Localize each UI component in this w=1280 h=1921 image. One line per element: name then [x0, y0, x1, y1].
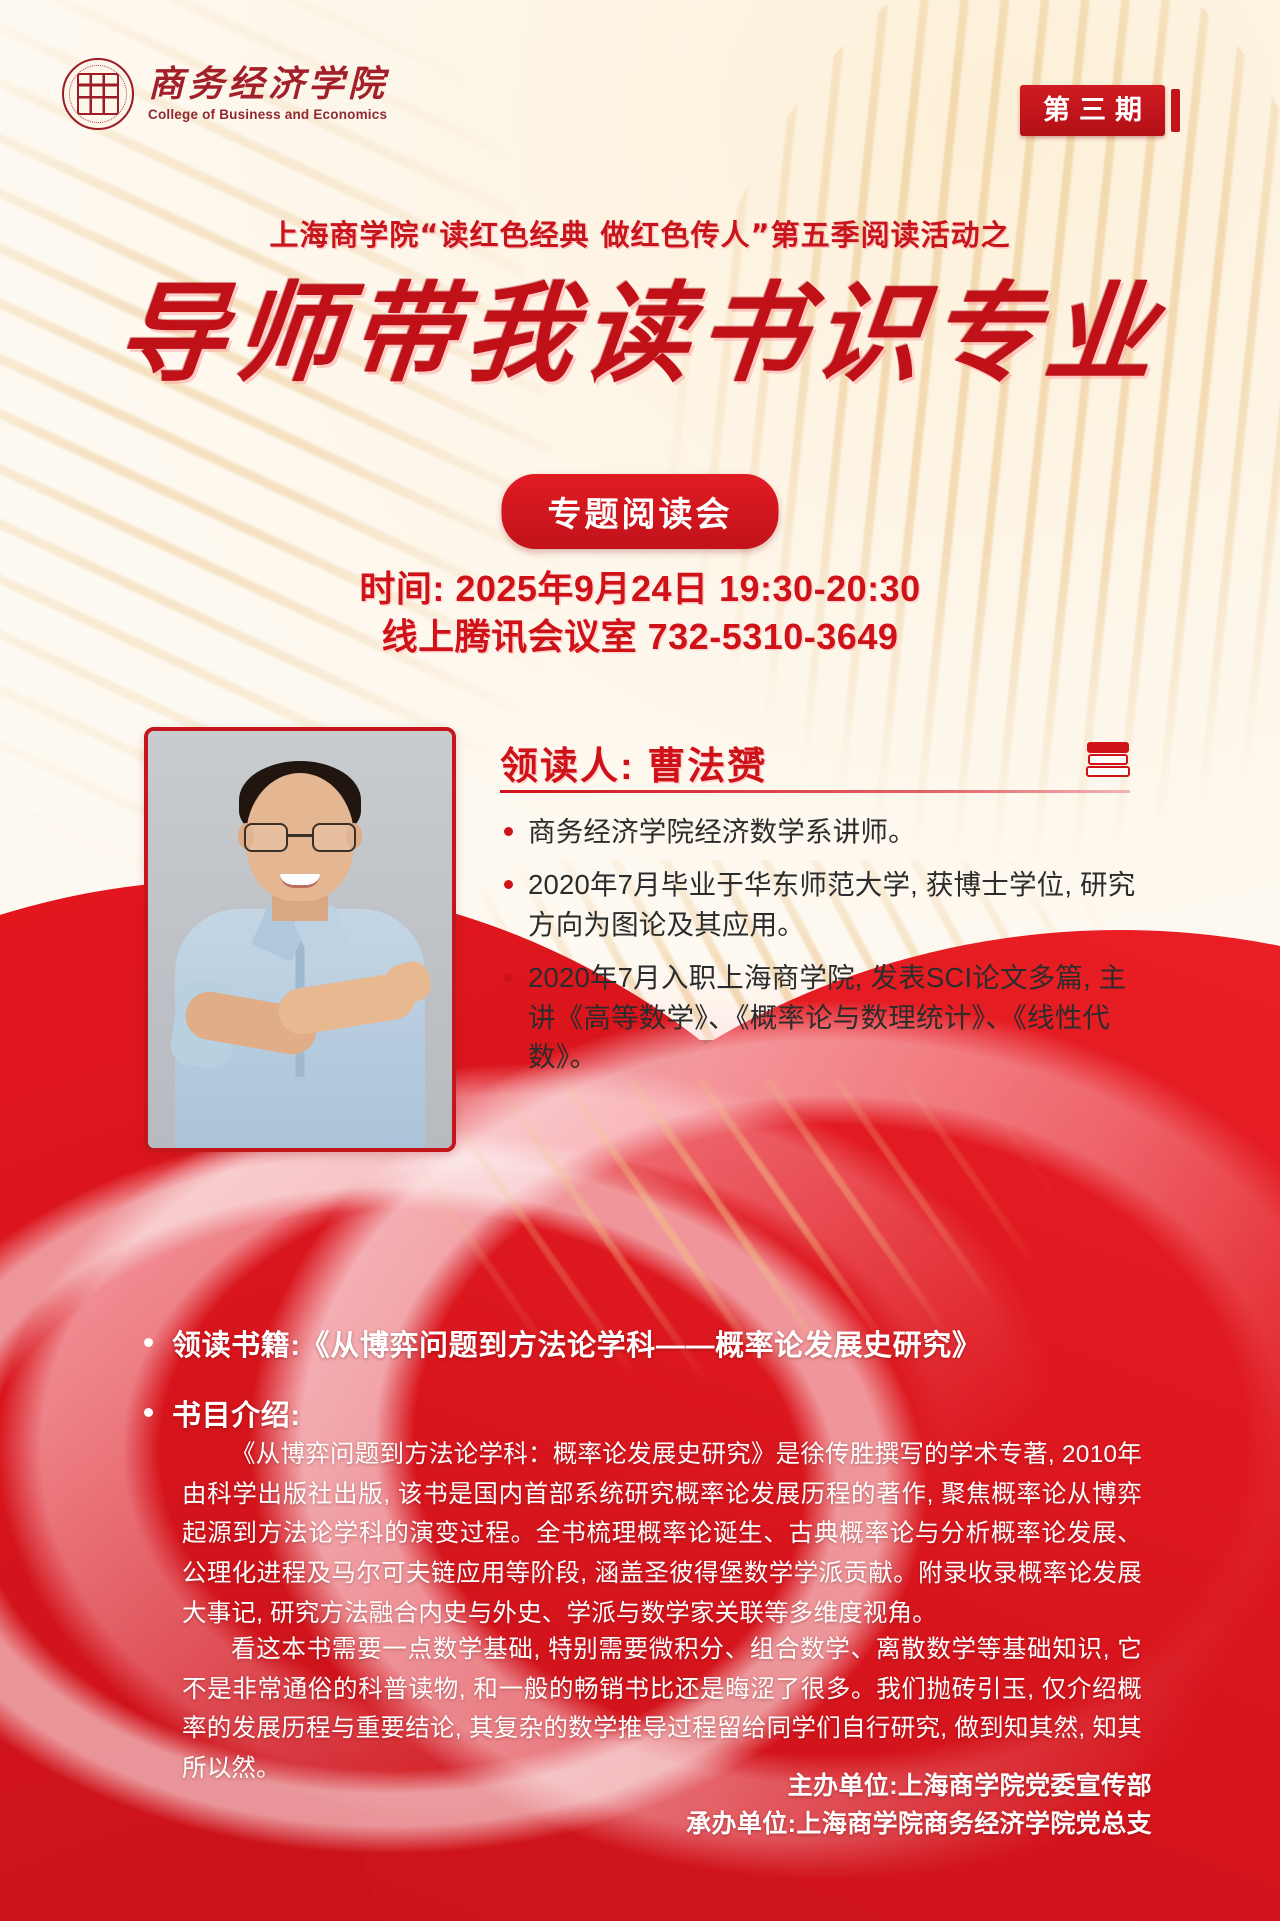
- session-type-badge: 专题阅读会: [502, 474, 779, 549]
- book-paragraph-1: 《从博弈问题到方法论学科：概率论发展史研究》是徐传胜撰写的学术专著, 2010年…: [182, 1435, 1142, 1633]
- kicker-text: 上海商学院“读红色经典 做红色传人”第五季阅读活动之: [0, 212, 1280, 254]
- organizer-footer: 主办单位:上海商学院党委宣传部 承办单位:上海商学院商务经济学院党总支: [686, 1768, 1152, 1843]
- footer-organizer: 承办单位:上海商学院商务经济学院党总支: [686, 1806, 1152, 1844]
- list-item: 2020年7月入职上海商学院, 发表SCI论文多篇, 主讲《高等数学》、《概率论…: [500, 958, 1140, 1078]
- glasses-lens-right: [312, 823, 356, 852]
- event-details: 时间: 2025年9月24日 19:30-20:30 线上腾讯会议室 732-5…: [0, 565, 1280, 660]
- logo-name-en: College of Business and Economics: [148, 108, 388, 122]
- book-bottom: [1086, 766, 1130, 777]
- seal-glyph-icon: [77, 73, 119, 115]
- logo-wordmark: 商务经济学院 College of Business and Economics: [148, 66, 388, 122]
- issue-badge-label: 第三期: [1020, 85, 1165, 136]
- list-item: 商务经济学院经济数学系讲师。: [500, 812, 1140, 852]
- page-title: 导师带我读书识专业: [0, 276, 1280, 393]
- event-time: 时间: 2025年9月24日 19:30-20:30: [0, 565, 1280, 613]
- logo-name-cn: 商务经济学院: [148, 66, 388, 102]
- speaker-name: 领读人: 曹法赟: [500, 735, 767, 790]
- glasses-lens-left: [244, 823, 288, 852]
- portrait-glasses-icon: [244, 823, 356, 853]
- event-venue: 线上腾讯会议室 732-5310-3649: [0, 613, 1280, 661]
- footer-host: 主办单位:上海商学院党委宣传部: [686, 1768, 1152, 1806]
- glasses-bridge: [288, 834, 312, 837]
- book-intro-label: 书目介绍:: [140, 1392, 540, 1434]
- speaker-bio-list: 商务经济学院经济数学系讲师。 2020年7月毕业于华东师范大学, 获博士学位, …: [500, 812, 1140, 1077]
- issue-badge: 第三期: [1020, 85, 1180, 136]
- book-title-line: 领读书籍:《从博弈问题到方法论学科——概率论发展史研究》: [140, 1322, 1150, 1364]
- speaker-bio: 商务经济学院经济数学系讲师。 2020年7月毕业于华东师范大学, 获博士学位, …: [500, 812, 1140, 1090]
- speaker-portrait: [144, 727, 456, 1152]
- speaker-divider: [500, 790, 1130, 793]
- book-paragraph-2: 看这本书需要一点数学基础, 特别需要微积分、组合数学、离散数学等基础知识, 它不…: [182, 1630, 1142, 1789]
- list-item: 2020年7月毕业于华东师范大学, 获博士学位, 研究方向为图论及其应用。: [500, 865, 1140, 945]
- college-logo: 商务经济学院 College of Business and Economics: [62, 58, 388, 130]
- portrait-backdrop: [148, 731, 452, 1148]
- university-seal-icon: [62, 58, 134, 130]
- book-middle: [1088, 754, 1128, 765]
- poster-canvas: 商务经济学院 College of Business and Economics…: [0, 0, 1280, 1921]
- book-top: [1087, 742, 1129, 753]
- speaker-header: 领读人: 曹法赟: [500, 735, 1130, 790]
- stacked-books-icon: [1086, 737, 1130, 777]
- issue-badge-tick: [1171, 89, 1180, 132]
